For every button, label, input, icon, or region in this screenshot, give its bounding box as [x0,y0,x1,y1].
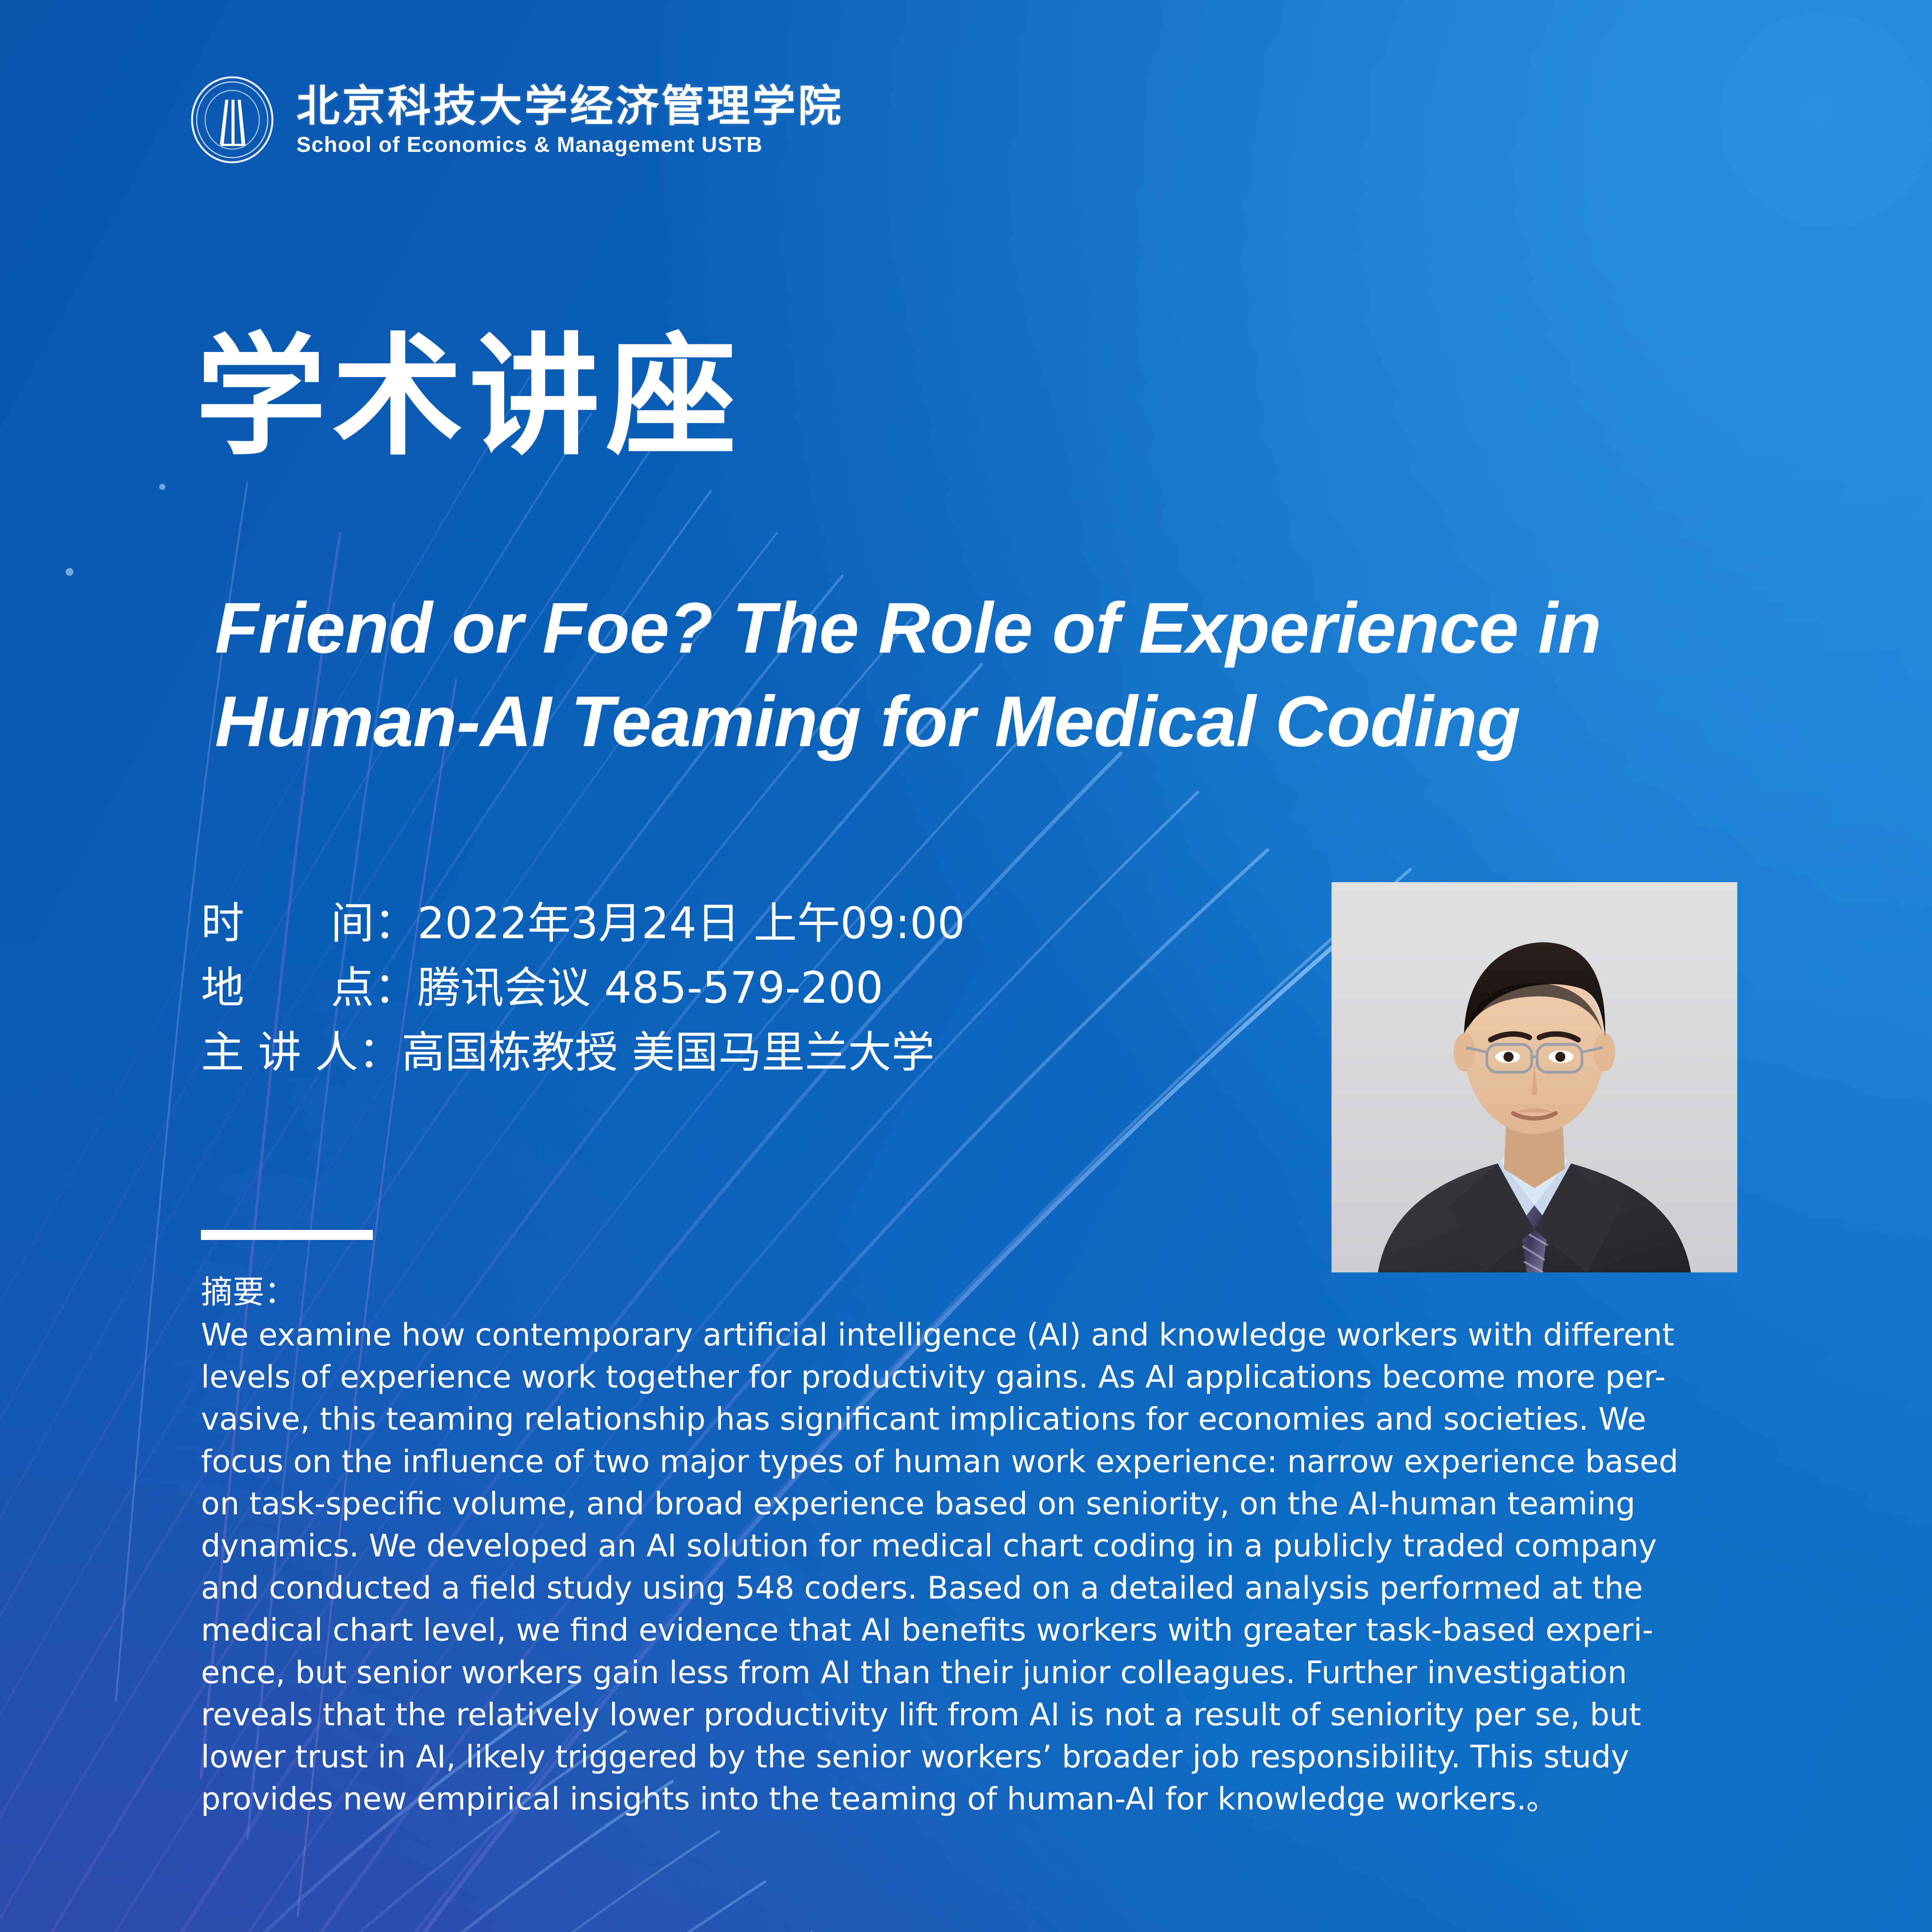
event-speaker-row: 主 讲 人： 高国栋教授 美国马里兰大学 [201,1029,965,1076]
abstract-line: We examine how contemporary artificial i… [201,1314,1882,1356]
seminar-poster: 母校留念 鋼鐵搖籃 北京科技大学经济管理学院 School of Ec [0,0,1932,1932]
abstract-line: levels of experience work together for p… [201,1356,1882,1398]
abstract-body: We examine how contemporary artificial i… [201,1314,1882,1820]
abstract-line: vasive, this teaming relationship has si… [201,1398,1882,1440]
abstract-heading: 摘要： [201,1275,296,1310]
section-divider [201,1230,373,1240]
abstract-line: on task-specific volume, and broad exper… [201,1483,1882,1525]
sem-seal-icon [188,76,276,164]
page-title-cn: 学术讲座 [196,332,743,462]
abstract-line: medical chart level, we find evidence th… [201,1609,1882,1651]
abstract-line: and conducted a field study using 548 co… [201,1567,1882,1609]
abstract-line: ence, but senior workers gain less from … [201,1651,1882,1694]
title-en-line-2: Human-AI Teaming for Medical Coding [215,675,1896,769]
event-speaker-value: 高国栋教授 美国马里兰大学 [401,1029,935,1076]
school-name-cn: 北京科技大学经济管理学院 [296,83,844,129]
event-location-value: 腾讯会议 485-579-200 [417,965,883,1012]
event-speaker-label: 主 讲 人： [201,1029,401,1076]
event-location-label: 地 点： [201,965,417,1012]
event-time-value: 2022年3月24日 上午09:00 [417,900,965,947]
abstract-line: focus on the influence of two major type… [201,1440,1882,1483]
abstract-line: provides new empirical insights into the… [201,1778,1882,1820]
abstract-line: lower trust in AI, likely triggered by t… [201,1736,1882,1778]
event-details: 时 间： 2022年3月24日 上午09:00 地 点： 腾讯会议 485-57… [201,900,965,1076]
event-time-label: 时 间： [201,900,417,947]
page-title-en: Friend or Foe? The Role of Experience in… [215,582,1896,769]
event-location-row: 地 点： 腾讯会议 485-579-200 [201,965,965,1012]
school-name-en: School of Economics & Management USTB [296,133,844,156]
school-logo: 北京科技大学经济管理学院 School of Economics & Manag… [188,76,844,164]
title-en-line-1: Friend or Foe? The Role of Experience in [215,582,1896,675]
event-time-row: 时 间： 2022年3月24日 上午09:00 [201,900,965,947]
abstract-line: dynamics. We developed an AI solution fo… [201,1525,1882,1567]
speaker-portrait [1332,882,1737,1272]
abstract-line: reveals that the relatively lower produc… [201,1694,1882,1736]
